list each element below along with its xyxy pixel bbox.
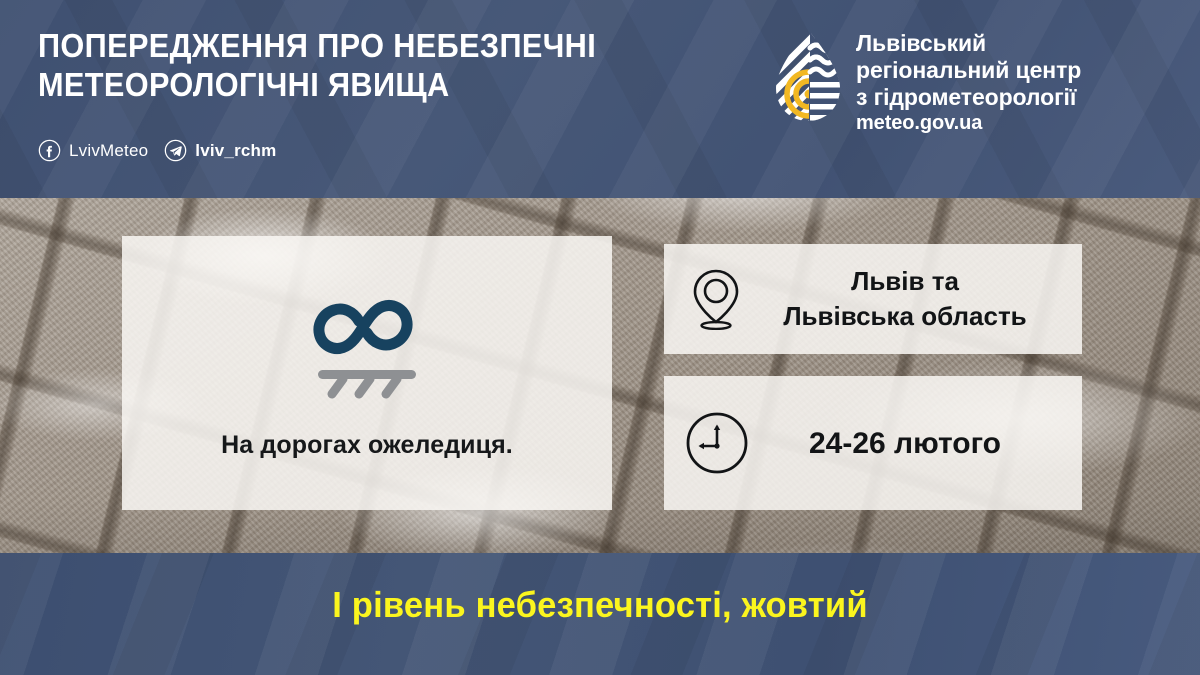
weather-warning-poster: ПОПЕРЕДЖЕННЯ ПРО НЕБЕЗПЕЧНІ МЕТЕОРОЛОГІЧ… xyxy=(0,0,1200,675)
facebook-handle: LvivMeteo xyxy=(69,141,148,161)
map-pin-icon xyxy=(690,268,742,330)
event-card: На дорогах ожеледиця. xyxy=(122,236,612,510)
date-card: 24-26 лютого xyxy=(664,376,1082,510)
organization-website: meteo.gov.ua xyxy=(856,111,1081,136)
social-links: LvivMeteo lviv_rchm xyxy=(38,139,276,162)
danger-level-text: І рівень небезпечності, жовтий xyxy=(24,584,1176,626)
black-ice-road-icon xyxy=(296,287,438,405)
water-drop-hydrometeorology-logo-icon xyxy=(772,28,844,124)
telegram-icon xyxy=(164,139,187,162)
facebook-icon xyxy=(38,139,61,162)
location-text: Львів та Львівська область xyxy=(742,264,1082,334)
social-link-telegram[interactable]: lviv_rchm xyxy=(164,139,276,162)
page-title: ПОПЕРЕДЖЕННЯ ПРО НЕБЕЗПЕЧНІ МЕТЕОРОЛОГІЧ… xyxy=(38,26,708,104)
social-link-facebook[interactable]: LvivMeteo xyxy=(38,139,148,162)
telegram-handle: lviv_rchm xyxy=(195,141,276,161)
clock-icon xyxy=(684,410,750,476)
organization-name: Львівський регіональний центр з гідромет… xyxy=(856,28,1081,111)
organization-logo: Львівський регіональний центр з гідромет… xyxy=(772,28,1081,136)
location-card: Львів та Львівська область xyxy=(664,244,1082,354)
event-caption: На дорогах ожеледиця. xyxy=(221,431,513,460)
date-text: 24-26 лютого xyxy=(750,426,1082,461)
